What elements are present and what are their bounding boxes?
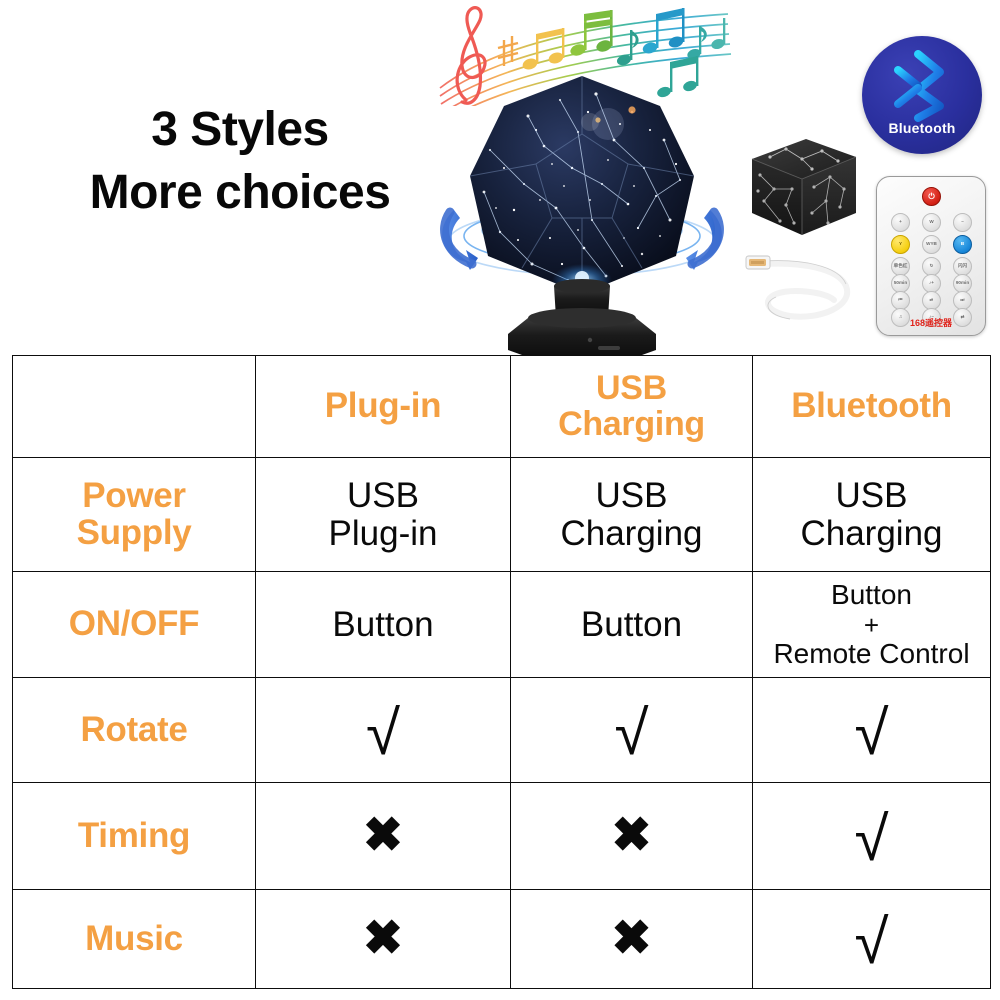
column-header-plug-in: Plug-in: [256, 356, 511, 458]
cell-text-line3: Remote Control: [773, 638, 969, 669]
row-label-timing-text: Timing: [78, 816, 190, 855]
row-label-on-off: ON/OFF: [13, 572, 256, 678]
cell-music-usb-charging: ✖: [511, 890, 753, 989]
cell-rotate-usb-charging: √: [511, 678, 753, 783]
row-label-music-text: Music: [85, 919, 183, 958]
table-row-music: Music ✖ ✖ √: [13, 890, 991, 989]
cell-text-line2: Plug-in: [329, 514, 438, 553]
check-mark: √: [366, 709, 400, 759]
remote-button-4[interactable]: WYB: [922, 235, 941, 254]
remote-button-0[interactable]: +: [891, 213, 910, 232]
row-label-timing: Timing: [13, 783, 256, 890]
cell-text-line2: Charging: [800, 514, 942, 553]
row-label-on-off-text: ON/OFF: [69, 604, 199, 643]
remote-power-button[interactable]: ⏻: [922, 187, 941, 206]
bluetooth-badge: Bluetooth: [862, 36, 982, 154]
check-mark: √: [854, 918, 888, 968]
column-header-plug-in-label: Plug-in: [325, 386, 442, 425]
table-row-on-off: ON/OFF Button Button Button + Remote Con…: [13, 572, 991, 678]
cell-text-line1: USB: [347, 476, 419, 515]
remote-model-label: 168遥控器: [877, 316, 985, 329]
remote-control[interactable]: ⏻ + W – Y WYB B 单色红 ↻ 闪闪 50min ♪+ 90min …: [876, 176, 986, 336]
cross-mark: ✖: [611, 817, 651, 855]
cell-text-line1: Button: [581, 605, 682, 644]
headline-line-1: 3 Styles: [40, 98, 440, 161]
cell-on-off-usb-charging: Button: [511, 572, 753, 678]
constellation-gift-box: [740, 133, 860, 243]
row-label-rotate: Rotate: [13, 678, 256, 783]
row-label-music: Music: [13, 890, 256, 989]
cross-mark: ✖: [611, 920, 651, 958]
cell-on-off-bluetooth: Button + Remote Control: [753, 572, 991, 678]
page-title: 3 Styles More choices: [40, 98, 440, 225]
column-header-bluetooth: Bluetooth: [753, 356, 991, 458]
remote-button-1[interactable]: W: [922, 213, 941, 232]
usb-cable: [742, 248, 862, 326]
cell-text-line1: Button: [332, 605, 433, 644]
column-header-usb-charging: USB Charging: [511, 356, 753, 458]
cell-timing-usb-charging: ✖: [511, 783, 753, 890]
cell-rotate-bluetooth: √: [753, 678, 991, 783]
column-header-bluetooth-label: Bluetooth: [791, 386, 952, 425]
cell-music-bluetooth: √: [753, 890, 991, 989]
bluetooth-badge-label: Bluetooth: [862, 120, 982, 136]
check-mark: √: [614, 709, 648, 759]
row-label-rotate-text: Rotate: [80, 710, 187, 749]
cell-text-line2: +: [864, 610, 879, 640]
check-mark: √: [854, 815, 888, 865]
table-corner-cell: [13, 356, 256, 458]
cell-music-plug-in: ✖: [256, 890, 511, 989]
check-mark: √: [854, 709, 888, 759]
table-header-row: Plug-in USB Charging Bluetooth: [13, 356, 991, 458]
cross-mark: ✖: [363, 817, 403, 855]
cell-text-line1: USB: [836, 476, 908, 515]
cell-power-supply-plug-in: USB Plug-in: [256, 458, 511, 572]
column-header-usb-charging-line1: USB: [596, 369, 667, 407]
headline-line-2: More choices: [40, 161, 440, 224]
cell-power-supply-bluetooth: USB Charging: [753, 458, 991, 572]
hero-banner: 3 Styles More choices: [0, 0, 1000, 355]
remote-button-3[interactable]: Y: [891, 235, 910, 254]
remote-button-2[interactable]: –: [953, 213, 972, 232]
row-label-power-supply-line1: Power: [82, 476, 186, 515]
cross-mark: ✖: [363, 920, 403, 958]
star-projector-lamp: [432, 68, 732, 360]
cell-power-supply-usb-charging: USB Charging: [511, 458, 753, 572]
feature-comparison-table: Plug-in USB Charging Bluetooth Power Sup…: [12, 355, 991, 989]
column-header-usb-charging-line2: Charging: [558, 405, 705, 443]
row-label-power-supply: Power Supply: [13, 458, 256, 572]
cell-text-line1: Button: [831, 579, 912, 610]
table-row-timing: Timing ✖ ✖ √: [13, 783, 991, 890]
remote-button-5[interactable]: B: [953, 235, 972, 254]
cell-on-off-plug-in: Button: [256, 572, 511, 678]
cell-rotate-plug-in: √: [256, 678, 511, 783]
cell-timing-plug-in: ✖: [256, 783, 511, 890]
cell-text-line1: USB: [596, 476, 668, 515]
bluetooth-icon: [888, 50, 956, 122]
table-row-rotate: Rotate √ √ √: [13, 678, 991, 783]
cell-text-line2: Charging: [560, 514, 702, 553]
row-label-power-supply-line2: Supply: [77, 513, 192, 552]
table-row-power-supply: Power Supply USB Plug-in USB Charging US…: [13, 458, 991, 572]
cell-timing-bluetooth: √: [753, 783, 991, 890]
